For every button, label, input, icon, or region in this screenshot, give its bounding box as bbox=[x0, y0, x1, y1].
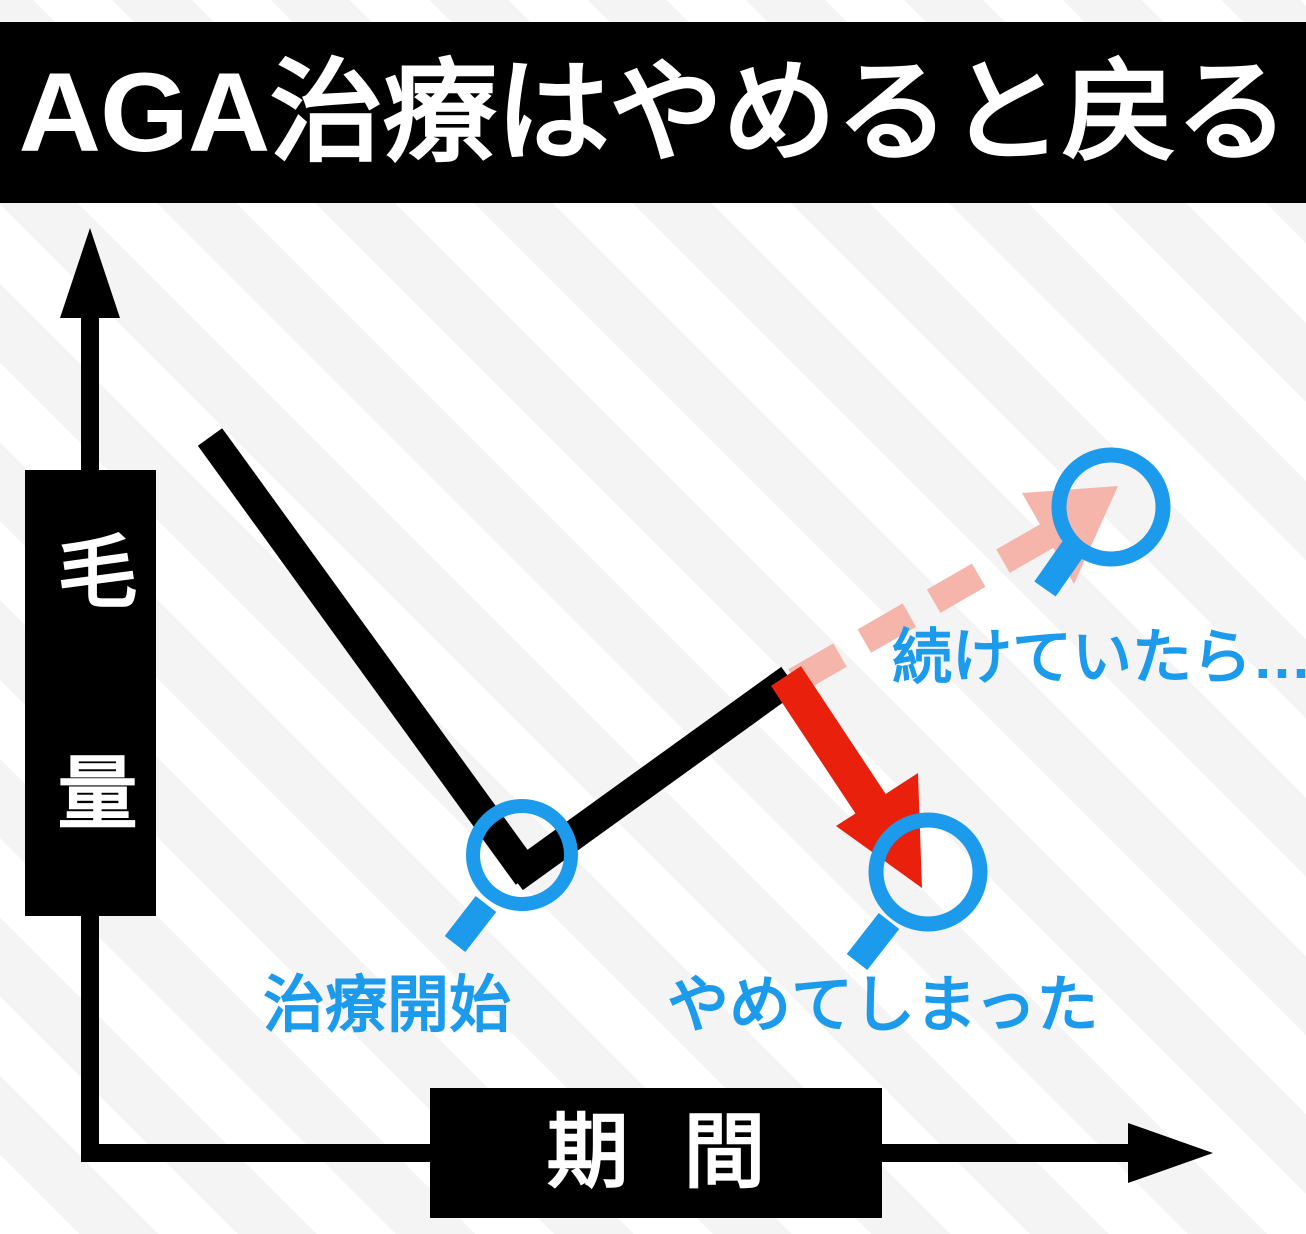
magnifier-icon-if-continued[interactable] bbox=[1045, 455, 1163, 589]
y-axis-label-box: 毛 量 bbox=[25, 470, 156, 916]
y-axis-label: 毛 量 bbox=[37, 530, 145, 857]
infographic-canvas: AGA治療はやめると戻る 毛 量 期 間 治療開始 やめてしまった 続けていたら… bbox=[0, 0, 1306, 1234]
magnifier-handle bbox=[1045, 549, 1073, 589]
decline-segment bbox=[210, 437, 528, 876]
arrow-right-icon bbox=[1128, 1123, 1213, 1183]
relapse-arrow bbox=[786, 676, 922, 888]
page-title: AGA治療はやめると戻る bbox=[18, 57, 1288, 169]
magnifier-handle bbox=[455, 904, 486, 944]
arrow-up-icon bbox=[60, 228, 120, 318]
recovery-segment bbox=[514, 679, 790, 878]
callout-label-treatment-stopped: やめてしまった bbox=[667, 975, 1099, 1037]
title-banner: AGA治療はやめると戻る bbox=[0, 22, 1306, 203]
relapse-shaft bbox=[786, 676, 878, 815]
x-axis-label: 期 間 bbox=[531, 1112, 782, 1194]
callout-label-if-continued: 続けていたら… bbox=[892, 628, 1306, 688]
x-axis-label-box: 期 間 bbox=[430, 1088, 882, 1218]
magnifier-handle bbox=[857, 921, 889, 962]
magnifier-lens bbox=[876, 820, 980, 924]
callout-label-treatment-start: 治療開始 bbox=[263, 975, 511, 1037]
